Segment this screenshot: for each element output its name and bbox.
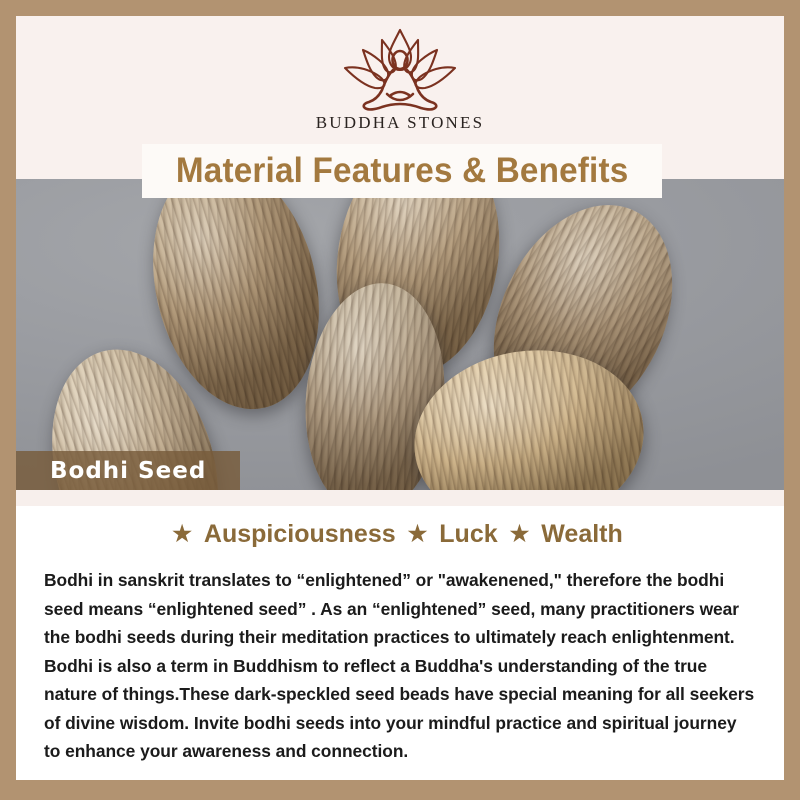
photo-caption-badge: Bodhi Seed xyxy=(16,451,240,490)
brand-logo: BUDDHA STONES xyxy=(16,24,784,133)
benefit-item-wealth: Wealth xyxy=(541,520,623,548)
title-banner: Material Features & Benefits xyxy=(142,144,662,198)
poster-root: BUDDHA STONES Material Features & Benefi… xyxy=(0,0,800,800)
page-title: Material Features & Benefits xyxy=(176,151,628,191)
star-icon: ★ xyxy=(510,521,530,546)
poster-card: BUDDHA STONES Material Features & Benefi… xyxy=(16,16,784,780)
star-icon: ★ xyxy=(172,521,192,546)
star-icon: ★ xyxy=(408,521,428,546)
frame-band-bottom xyxy=(0,780,604,800)
brand-name: BUDDHA STONES xyxy=(316,113,485,133)
photo-caption-text: Bodhi Seed xyxy=(50,458,206,484)
description-paragraph: Bodhi in sanskrit translates to “enlight… xyxy=(38,566,762,766)
content-top-tint xyxy=(16,490,784,506)
benefits-headline: ★ Auspiciousness ★ Luck ★ Wealth xyxy=(38,520,762,549)
benefit-item-luck: Luck xyxy=(439,520,497,548)
product-photo: Bodhi Seed xyxy=(16,179,784,490)
frame-band-left xyxy=(0,196,16,800)
benefit-item-auspiciousness: Auspiciousness xyxy=(204,520,396,548)
frame-band-right xyxy=(784,0,800,606)
content-panel: ★ Auspiciousness ★ Luck ★ Wealth Bodhi i… xyxy=(16,490,784,780)
lotus-meditation-figure-icon xyxy=(325,24,475,112)
frame-band-top xyxy=(215,0,800,16)
